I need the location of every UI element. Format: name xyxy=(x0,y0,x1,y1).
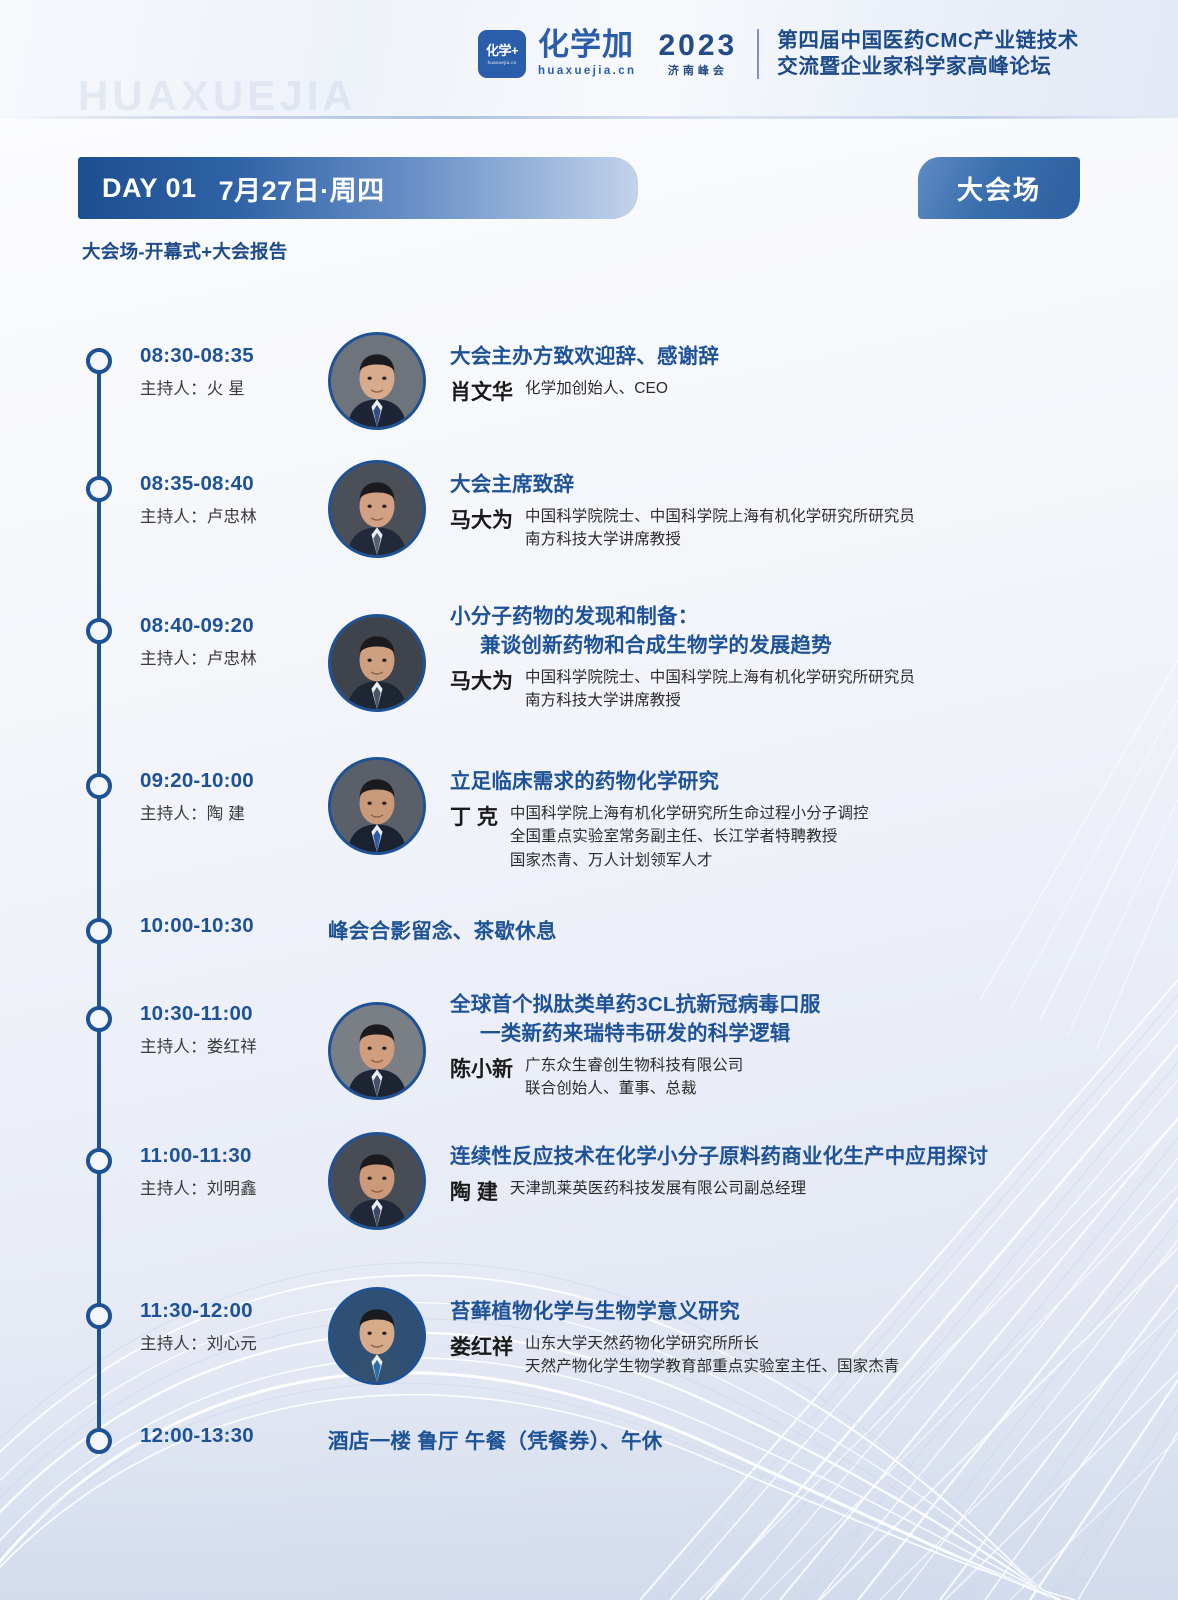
agenda-timeline: 08:30-08:35主持人：火 星 大会主办方致欢迎辞、感谢辞肖文华化学加创始… xyxy=(78,300,1098,1450)
event-title-line2: 交流暨企业家科学家高峰论坛 xyxy=(777,54,1079,80)
agenda-time: 12:00-13:30 xyxy=(140,1424,310,1448)
speaker-affiliation-line: 国家杰青、万人计划领军人才 xyxy=(510,849,869,872)
speaker-name: 丁 克 xyxy=(450,802,498,834)
speaker-affiliation: 中国科学院上海有机化学研究所生命过程小分子调控全国重点实验室常务副主任、长江学者… xyxy=(510,802,869,872)
agenda-time: 11:30-12:00 xyxy=(140,1299,310,1323)
day-date: 7月27日·周四 xyxy=(219,169,385,208)
day-header-bar: DAY 01 7月27日·周四 xyxy=(78,157,638,219)
agenda-host: 主持人：娄红祥 xyxy=(140,1033,310,1057)
agenda-content: 大会主席致辞马大为中国科学院院士、中国科学院上海有机化学研究所研究员南方科技大学… xyxy=(450,470,1098,552)
agenda-host: 主持人：刘心元 xyxy=(140,1330,310,1354)
agenda-time: 08:35-08:40 xyxy=(140,472,310,496)
speaker-name: 马大为 xyxy=(450,666,513,698)
talk-title-line: 小分子药物的发现和制备： xyxy=(450,602,1098,631)
event-year: 2023 xyxy=(658,31,737,61)
speaker-affiliation: 山东大学天然药物化学研究所所长天然产物化学生物学教育部重点实验室主任、国家杰青 xyxy=(525,1332,899,1379)
speaker-avatar xyxy=(328,460,426,558)
event-title-line1: 第四届中国医药CMC产业链技术 xyxy=(777,28,1079,54)
agenda-time-block: 10:00-10:30 xyxy=(140,914,310,938)
speaker-affiliation-line: 全国重点实验室常务副主任、长江学者特聘教授 xyxy=(510,825,869,848)
speaker-affiliation: 中国科学院院士、中国科学院上海有机化学研究所研究员南方科技大学讲席教授 xyxy=(525,666,915,713)
timeline-axis xyxy=(97,348,101,1444)
speaker-portrait xyxy=(331,1290,423,1382)
event-title: 第四届中国医药CMC产业链技术 交流暨企业家科学家高峰论坛 xyxy=(777,28,1079,80)
timeline-dot xyxy=(86,773,112,799)
agenda-content: 立足临床需求的药物化学研究丁 克中国科学院上海有机化学研究所生命过程小分子调控全… xyxy=(450,767,1098,872)
speaker-affiliation-line: 中国科学院院士、中国科学院上海有机化学研究所研究员 xyxy=(525,505,915,528)
timeline-dot xyxy=(86,476,112,502)
talk-title-line: 连续性反应技术在化学小分子原料药商业化生产中应用探讨 xyxy=(450,1142,1098,1171)
agenda-time-block: 08:40-09:20主持人：卢忠林 xyxy=(140,614,310,669)
speaker-portrait xyxy=(331,617,423,709)
brand-name-cn: 化学加 xyxy=(538,30,636,61)
speaker-portrait xyxy=(331,760,423,852)
agenda-time: 08:30-08:35 xyxy=(140,344,310,368)
talk-title-line: 一类新药来瑞特韦研发的科学逻辑 xyxy=(450,1019,1098,1048)
speaker-name: 娄红祥 xyxy=(450,1332,513,1364)
speaker-avatar xyxy=(328,332,426,430)
speaker-affiliation-line: 化学加创始人、CEO xyxy=(525,377,668,400)
huaxuejia-logo-icon: 化学+ huaxuejia.cn xyxy=(478,30,526,78)
speaker-affiliation-line: 中国科学院上海有机化学研究所生命过程小分子调控 xyxy=(510,802,869,825)
agenda-time-block: 08:35-08:40主持人：卢忠林 xyxy=(140,472,310,527)
day-label: DAY 01 xyxy=(102,173,197,204)
timeline-dot xyxy=(86,348,112,374)
logo-mark-bottom-text: huaxuejia.cn xyxy=(488,60,517,65)
speaker-affiliation-line: 南方科技大学讲席教授 xyxy=(525,689,915,712)
speaker-affiliation: 广东众生睿创生物科技有限公司联合创始人、董事、总裁 xyxy=(525,1054,743,1101)
agenda-time-block: 11:30-12:00主持人：刘心元 xyxy=(140,1299,310,1354)
logo-mark-top-text: 化学+ xyxy=(486,44,518,57)
speaker-block: 丁 克中国科学院上海有机化学研究所生命过程小分子调控全国重点实验室常务副主任、长… xyxy=(450,802,1098,872)
talk-title-line: 苔藓植物化学与生物学意义研究 xyxy=(450,1297,1098,1326)
speaker-avatar xyxy=(328,757,426,855)
speaker-block: 肖文华化学加创始人、CEO xyxy=(450,377,1098,409)
agenda-break-text: 酒店一楼 鲁厅 午餐（凭餐券）、午休 xyxy=(328,1424,663,1454)
timeline-dot xyxy=(86,618,112,644)
speaker-name: 肖文华 xyxy=(450,377,513,409)
speaker-affiliation-line: 天津凯莱英医药科技发展有限公司副总经理 xyxy=(510,1177,806,1200)
brand-wordmark: 化学加 huaxuejia.cn xyxy=(538,30,636,78)
talk-title: 大会主席致辞 xyxy=(450,470,1098,499)
agenda-content: 连续性反应技术在化学小分子原料药商业化生产中应用探讨陶 建天津凯莱英医药科技发展… xyxy=(450,1142,1098,1209)
agenda-time: 10:00-10:30 xyxy=(140,914,310,938)
agenda-content: 苔藓植物化学与生物学意义研究娄红祥山东大学天然药物化学研究所所长天然产物化学生物… xyxy=(450,1297,1098,1379)
agenda-host: 主持人：刘明鑫 xyxy=(140,1175,310,1199)
agenda-content: 小分子药物的发现和制备：兼谈创新药物和合成生物学的发展趋势马大为中国科学院院士、… xyxy=(450,602,1098,713)
speaker-affiliation-line: 南方科技大学讲席教授 xyxy=(525,528,915,551)
speaker-name: 陈小新 xyxy=(450,1054,513,1086)
agenda-break-text: 峰会合影留念、茶歇休息 xyxy=(328,914,557,944)
speaker-block: 娄红祥山东大学天然药物化学研究所所长天然产物化学生物学教育部重点实验室主任、国家… xyxy=(450,1332,1098,1379)
speaker-avatar xyxy=(328,1002,426,1100)
speaker-block: 马大为中国科学院院士、中国科学院上海有机化学研究所研究员南方科技大学讲席教授 xyxy=(450,505,1098,552)
agenda-time-block: 09:20-10:00主持人：陶 建 xyxy=(140,769,310,824)
agenda-host: 主持人：卢忠林 xyxy=(140,503,310,527)
brand-logo-row: 化学+ huaxuejia.cn 化学加 huaxuejia.cn 2023 济… xyxy=(478,28,1079,80)
talk-title-line: 兼谈创新药物和合成生物学的发展趋势 xyxy=(450,631,1098,660)
agenda-time: 10:30-11:00 xyxy=(140,1002,310,1026)
speaker-avatar xyxy=(328,1287,426,1385)
speaker-name: 马大为 xyxy=(450,505,513,537)
speaker-name: 陶 建 xyxy=(450,1177,498,1209)
timeline-dot xyxy=(86,1428,112,1454)
speaker-affiliation-line: 天然产物化学生物学教育部重点实验室主任、国家杰青 xyxy=(525,1355,899,1378)
speaker-affiliation-line: 联合创始人、董事、总裁 xyxy=(525,1077,743,1100)
event-city-label: 济南峰会 xyxy=(658,66,737,77)
speaker-affiliation: 化学加创始人、CEO xyxy=(525,377,668,400)
talk-title: 全球首个拟肽类单药3CL抗新冠病毒口服一类新药来瑞特韦研发的科学逻辑 xyxy=(450,990,1098,1048)
timeline-dot xyxy=(86,1006,112,1032)
agenda-time-block: 11:00-11:30主持人：刘明鑫 xyxy=(140,1144,310,1199)
agenda-time-block: 08:30-08:35主持人：火 星 xyxy=(140,344,310,399)
agenda-time-block: 12:00-13:30 xyxy=(140,1424,310,1448)
brand-domain: huaxuejia.cn xyxy=(538,66,636,78)
speaker-affiliation: 天津凯莱英医药科技发展有限公司副总经理 xyxy=(510,1177,806,1200)
speaker-block: 马大为中国科学院院士、中国科学院上海有机化学研究所研究员南方科技大学讲席教授 xyxy=(450,666,1098,713)
speaker-affiliation-line: 广东众生睿创生物科技有限公司 xyxy=(525,1054,743,1077)
speaker-affiliation-line: 中国科学院院士、中国科学院上海有机化学研究所研究员 xyxy=(525,666,915,689)
talk-title-line: 立足临床需求的药物化学研究 xyxy=(450,767,1098,796)
agenda-host: 主持人：火 星 xyxy=(140,375,310,399)
speaker-block: 陈小新广东众生睿创生物科技有限公司联合创始人、董事、总裁 xyxy=(450,1054,1098,1101)
agenda-time: 08:40-09:20 xyxy=(140,614,310,638)
speaker-avatar xyxy=(328,1132,426,1230)
talk-title-line: 大会主席致辞 xyxy=(450,470,1098,499)
agenda-time: 09:20-10:00 xyxy=(140,769,310,793)
watermark-text: HUAXUEJIA xyxy=(78,72,357,120)
speaker-portrait xyxy=(331,463,423,555)
agenda-content: 全球首个拟肽类单药3CL抗新冠病毒口服一类新药来瑞特韦研发的科学逻辑陈小新广东众… xyxy=(450,990,1098,1101)
timeline-dot xyxy=(86,918,112,944)
talk-title-line: 大会主办方致欢迎辞、感谢辞 xyxy=(450,342,1098,371)
year-block: 2023 济南峰会 xyxy=(658,31,737,77)
agenda-host: 主持人：陶 建 xyxy=(140,800,310,824)
talk-title: 苔藓植物化学与生物学意义研究 xyxy=(450,1297,1098,1326)
talk-title: 立足临床需求的药物化学研究 xyxy=(450,767,1098,796)
agenda-time-block: 10:30-11:00主持人：娄红祥 xyxy=(140,1002,310,1057)
header-vertical-divider xyxy=(757,29,759,79)
talk-title: 连续性反应技术在化学小分子原料药商业化生产中应用探讨 xyxy=(450,1142,1098,1171)
timeline-dot xyxy=(86,1303,112,1329)
talk-title: 小分子药物的发现和制备：兼谈创新药物和合成生物学的发展趋势 xyxy=(450,602,1098,660)
session-label: 大会场-开幕式+大会报告 xyxy=(82,238,288,264)
speaker-portrait xyxy=(331,1135,423,1227)
agenda-host: 主持人：卢忠林 xyxy=(140,645,310,669)
speaker-affiliation-line: 山东大学天然药物化学研究所所长 xyxy=(525,1332,899,1355)
talk-title-line: 全球首个拟肽类单药3CL抗新冠病毒口服 xyxy=(450,990,1098,1019)
speaker-avatar xyxy=(328,614,426,712)
timeline-dot xyxy=(86,1148,112,1174)
speaker-portrait xyxy=(331,335,423,427)
talk-title: 大会主办方致欢迎辞、感谢辞 xyxy=(450,342,1098,371)
speaker-portrait xyxy=(331,1005,423,1097)
agenda-content: 大会主办方致欢迎辞、感谢辞肖文华化学加创始人、CEO xyxy=(450,342,1098,409)
venue-badge: 大会场 xyxy=(918,157,1080,219)
speaker-affiliation: 中国科学院院士、中国科学院上海有机化学研究所研究员南方科技大学讲席教授 xyxy=(525,505,915,552)
speaker-block: 陶 建天津凯莱英医药科技发展有限公司副总经理 xyxy=(450,1177,1098,1209)
agenda-time: 11:00-11:30 xyxy=(140,1144,310,1168)
